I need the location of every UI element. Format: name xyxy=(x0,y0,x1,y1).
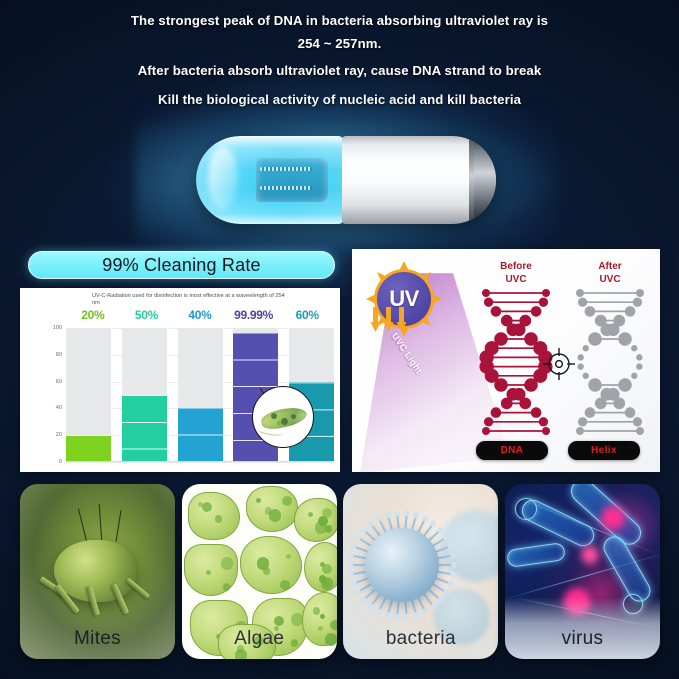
card-mites[interactable]: Mites xyxy=(20,484,175,659)
dna-base xyxy=(578,417,587,426)
dna-base xyxy=(484,417,493,426)
bacteria-spike-tip xyxy=(361,527,367,533)
bacteria-spike-tip xyxy=(448,543,454,549)
dna-base xyxy=(484,298,493,307)
dna-base xyxy=(585,407,596,418)
dna-base xyxy=(506,323,519,336)
uvc-dna-diagram: UVC Light UV Before UVC xyxy=(352,249,660,472)
dna-base xyxy=(636,354,642,360)
germ-dot xyxy=(277,421,281,425)
algae-nucleus xyxy=(286,554,291,559)
chart-y-tick-label: 0 xyxy=(36,459,62,465)
dna-base xyxy=(633,298,642,307)
dna-base xyxy=(618,332,632,346)
chart-value-label: 60% xyxy=(280,308,334,324)
bacteria-spike-tip xyxy=(431,521,437,527)
dna-base xyxy=(631,345,637,351)
virus-glow xyxy=(601,506,625,530)
chart-y-tick-label: 60 xyxy=(36,379,62,385)
dna-base xyxy=(595,398,607,410)
algae-nucleus xyxy=(280,580,290,590)
lamp-glass-bulb xyxy=(196,136,344,224)
algae-nucleus xyxy=(318,516,328,526)
dna-base xyxy=(636,289,644,297)
chart-gridline xyxy=(66,462,334,463)
algae-cell xyxy=(188,492,240,540)
card-label-bacteria: bacteria xyxy=(343,628,498,650)
dna-base xyxy=(531,407,542,418)
virus-corona xyxy=(515,498,537,520)
dna-base xyxy=(539,298,548,307)
uv-lamp-body: UV xyxy=(196,136,496,224)
lamp-filament xyxy=(256,158,328,202)
lamp-metal-housing: UV xyxy=(342,136,496,224)
after-uvc-line2: UVC xyxy=(570,274,650,287)
dna-base xyxy=(625,407,636,418)
bacteria-spike-tip xyxy=(368,521,374,527)
after-uvc-title: After UVC xyxy=(570,261,650,286)
dna-tag: DNA xyxy=(476,441,548,460)
product-image-uv-lamp: UV xyxy=(196,130,496,230)
chart-y-tick-label: 80 xyxy=(36,352,62,358)
chart-bar xyxy=(66,435,111,462)
bacteria-spike-tip xyxy=(376,609,382,615)
chart-value-label: 20% xyxy=(66,308,120,324)
bacteria-spike-tip xyxy=(404,510,410,516)
dna-base xyxy=(588,378,602,392)
header-line-2: 254 ~ 257nm. xyxy=(0,32,679,55)
crosshair-target-icon xyxy=(542,347,576,381)
uv-brand-mark: UV xyxy=(376,136,461,138)
algae-nucleus xyxy=(221,557,234,570)
bacteria-spike-tip xyxy=(448,581,454,587)
card-label-algae: Algae xyxy=(182,628,337,650)
bacteria-spike-tip xyxy=(431,603,437,609)
chart-y-tick-label: 100 xyxy=(36,325,62,331)
algae-nucleus xyxy=(313,607,321,615)
algae-nucleus xyxy=(223,583,231,591)
card-bacteria[interactable]: bacteria xyxy=(343,484,498,659)
chart-value-label: 50% xyxy=(120,308,174,324)
bacteria-spike-tip xyxy=(395,614,401,620)
dna-helix-broken xyxy=(564,287,656,437)
chart-bar-slot xyxy=(122,328,167,462)
bacteria-spike-tip xyxy=(376,515,382,521)
algae-cell xyxy=(240,536,302,594)
bacteria-spike-tip xyxy=(414,612,420,618)
dna-base xyxy=(585,306,596,317)
algae-nucleus xyxy=(257,557,270,570)
dna-base xyxy=(542,289,550,297)
dna-base xyxy=(491,407,502,418)
bacteria-spike-tip xyxy=(355,535,361,541)
bacteria-spike-tip xyxy=(355,589,361,595)
dna-base xyxy=(583,373,589,379)
magnified-bacteria-callout xyxy=(252,386,314,448)
dna-base xyxy=(600,323,613,336)
bacteria-spike-tip xyxy=(450,572,456,578)
bacteria-spike-tip xyxy=(348,572,354,578)
algae-nucleus xyxy=(320,562,325,567)
bacteria-spike-tip xyxy=(444,535,450,541)
algae-nucleus xyxy=(202,502,212,512)
algae-nucleus xyxy=(235,649,248,659)
dna-base xyxy=(501,398,513,410)
card-label-mites: Mites xyxy=(20,628,175,650)
chart-value-labels: 20%50%40%99.99%60% xyxy=(66,308,334,324)
bacteria-spike-tip xyxy=(438,527,444,533)
chart-bar-slot xyxy=(66,328,111,462)
microbe-card-row: Mites Algae bacteria xyxy=(20,484,660,659)
helix-tag-label: Helix xyxy=(591,445,617,456)
bacteria-spike-tip xyxy=(351,581,357,587)
algae-nucleus xyxy=(256,498,261,503)
bulb-highlight xyxy=(208,146,238,210)
algae-nucleus xyxy=(215,515,223,523)
dna-base xyxy=(631,373,637,379)
algae-nucleus xyxy=(206,570,211,575)
banner-label: 99% Cleaning Rate xyxy=(102,255,261,276)
bacteria-spike-tip xyxy=(422,515,428,521)
mite-hair xyxy=(78,508,88,541)
bacteria-spike-tip xyxy=(368,603,374,609)
cleaning-rate-banner: 99% Cleaning Rate xyxy=(28,251,335,279)
dna-base xyxy=(577,354,583,360)
bacteria-spike-tip xyxy=(444,589,450,595)
before-uvc-line1: Before xyxy=(476,261,556,274)
dna-base xyxy=(494,378,508,392)
bacteria-spike-tip xyxy=(395,510,401,516)
dna-base xyxy=(636,427,644,435)
chart-y-axis: 020406080100 xyxy=(36,328,62,462)
dna-base xyxy=(576,289,584,297)
dna-base xyxy=(613,398,625,410)
uv-down-arrows-icon xyxy=(369,307,413,335)
after-uvc-line1: After xyxy=(570,261,650,274)
before-uvc-title: Before UVC xyxy=(476,261,556,286)
bacteria-spike-tip xyxy=(422,609,428,615)
dna-base xyxy=(482,289,490,297)
germ-dot xyxy=(291,414,296,419)
dna-base xyxy=(519,398,531,410)
bacteria-spike-tip xyxy=(348,552,354,558)
chart-bar xyxy=(178,408,223,462)
bacteria-spike-tip xyxy=(404,614,410,620)
card-algae[interactable]: Algae xyxy=(182,484,337,659)
dna-base xyxy=(542,427,550,435)
before-uvc-line2: UVC xyxy=(476,274,556,287)
bacteria-spike-tip xyxy=(438,597,444,603)
bacteria-spike-tip xyxy=(385,612,391,618)
chart-value-label: 99.99% xyxy=(227,308,281,324)
chart-y-tick-label: 40 xyxy=(36,405,62,411)
germ-dot xyxy=(281,418,288,425)
dna-base xyxy=(491,306,502,317)
dna-base xyxy=(578,298,587,307)
bacteria-spike-tip xyxy=(347,562,353,568)
chart-x-axis xyxy=(66,461,334,462)
dna-base xyxy=(618,378,632,392)
algae-nucleus xyxy=(319,575,327,583)
cleaning-rate-chart: UV-C-Radiation used for disinfection is … xyxy=(20,288,340,472)
dna-base xyxy=(539,417,548,426)
dna-tag-label: DNA xyxy=(501,445,524,456)
dna-base xyxy=(576,427,584,435)
header-text-block: The strongest peak of DNA in bacteria ab… xyxy=(0,10,679,111)
mite-hair xyxy=(116,510,122,542)
bacteria-spike-tip xyxy=(450,552,456,558)
dna-base xyxy=(531,306,542,317)
virus-glow xyxy=(581,546,599,564)
germ-dot xyxy=(271,413,277,419)
dna-base xyxy=(636,363,642,369)
bacteria-spike-tip xyxy=(361,597,367,603)
header-line-3: After bacteria absorb ultraviolet ray, c… xyxy=(0,60,679,82)
algae-nucleus xyxy=(282,496,292,506)
dna-base xyxy=(588,332,602,346)
card-label-virus: virus xyxy=(505,628,660,650)
card-virus[interactable]: virus xyxy=(505,484,660,659)
bacteria-spike-tip xyxy=(385,512,391,518)
chart-bar xyxy=(122,395,167,462)
dna-base xyxy=(583,345,589,351)
chart-subtitle: UV-C-Radiation used for disinfection is … xyxy=(92,293,292,308)
algae-nucleus xyxy=(325,525,333,533)
helix-tag: Helix xyxy=(568,441,640,460)
algae-nucleus xyxy=(269,509,282,522)
bacteria-virion xyxy=(365,528,439,602)
algae-nucleus xyxy=(308,512,313,517)
algae-cell xyxy=(294,498,337,542)
dna-base xyxy=(524,378,538,392)
chart-value-label: 40% xyxy=(173,308,227,324)
chart-y-tick-label: 20 xyxy=(36,432,62,438)
chart-bar-slot xyxy=(178,328,223,462)
virus-rod xyxy=(506,542,566,568)
bacteria-spike-tip xyxy=(414,512,420,518)
header-line-1: The strongest peak of DNA in bacteria ab… xyxy=(0,10,679,32)
dna-base xyxy=(625,306,636,317)
mite-hair xyxy=(99,504,103,542)
lamp-end-cap xyxy=(474,136,496,224)
algae-nucleus xyxy=(274,616,284,626)
algae-nucleus xyxy=(320,614,325,619)
bacteria-spike-tip xyxy=(451,562,457,568)
dna-base xyxy=(633,417,642,426)
dna-base xyxy=(482,427,490,435)
dna-base xyxy=(577,363,583,369)
bacteria-spike-tip xyxy=(351,543,357,549)
